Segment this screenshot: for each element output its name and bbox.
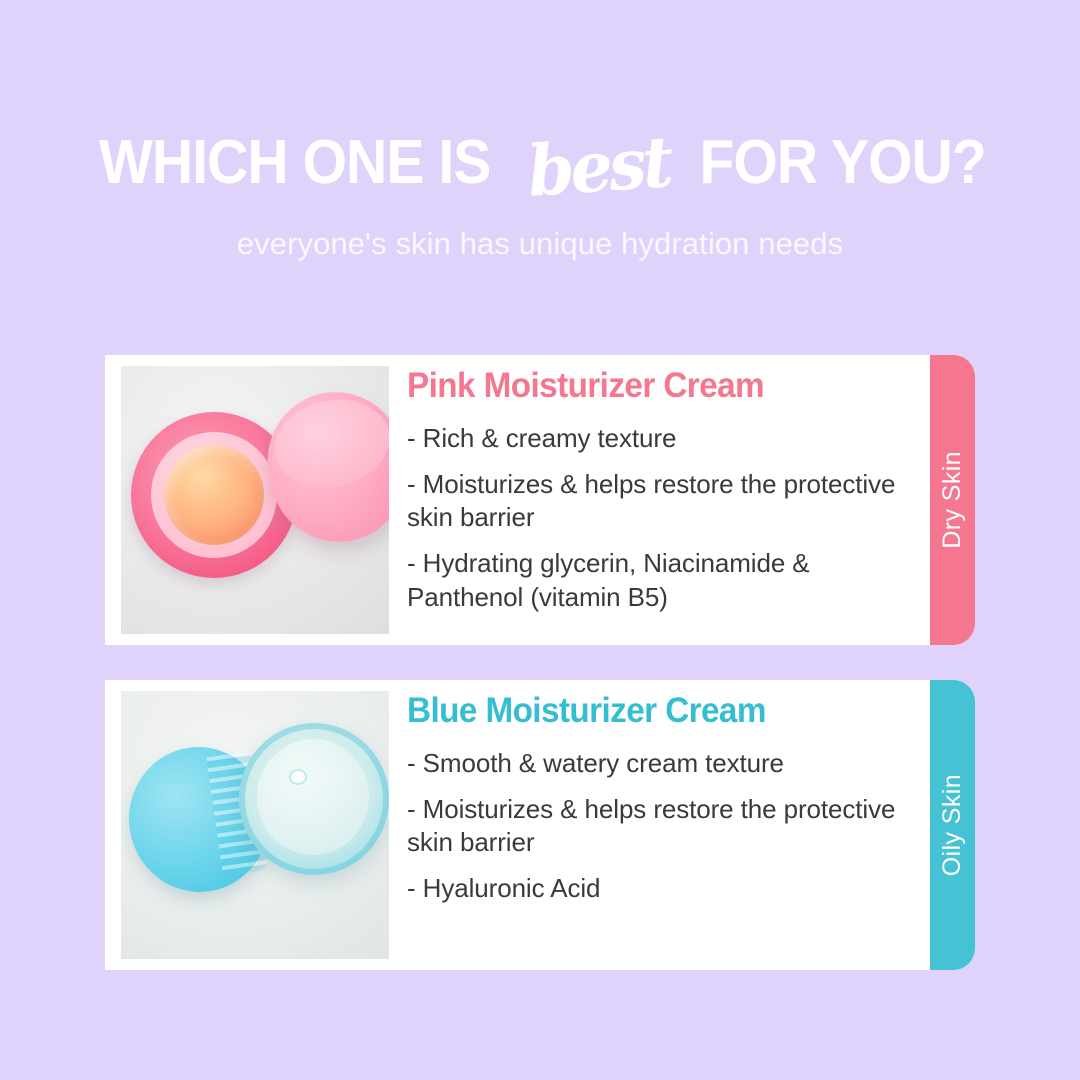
pink-jar-inner-icon	[151, 432, 277, 558]
product-feature: - Hyaluronic Acid	[407, 872, 904, 905]
product-photo-backdrop	[121, 691, 389, 959]
product-image-pink	[121, 366, 389, 634]
blue-jar-icon	[239, 723, 389, 875]
headline-part1: WHICH ONE IS	[99, 132, 490, 194]
product-feature: - Smooth & watery cream texture	[407, 747, 904, 780]
product-card-list: Dry Skin Pink Moisturizer Cream - Ric	[0, 355, 1080, 970]
product-details-pink: Pink Moisturizer Cream - Rich & creamy t…	[389, 367, 930, 614]
pink-cream-icon	[164, 445, 264, 545]
product-card-pink[interactable]: Dry Skin Pink Moisturizer Cream - Ric	[0, 355, 1080, 645]
product-feature: - Hydrating glycerin, Niacinamide & Pant…	[407, 547, 904, 614]
blue-gel-icon	[257, 739, 369, 855]
product-details-blue: Blue Moisturizer Cream - Smooth & watery…	[389, 692, 930, 906]
header: WHICH ONE IS best FOR YOU? everyone's sk…	[0, 0, 1080, 262]
product-image-blue	[121, 691, 389, 959]
product-feature: - Moisturizes & helps restore the protec…	[407, 468, 904, 535]
product-feature: - Moisturizes & helps restore the protec…	[407, 793, 904, 860]
skin-type-tab-label: Dry Skin	[938, 451, 967, 549]
page-headline: WHICH ONE IS best FOR YOU?	[0, 128, 1080, 198]
product-card-body-pink[interactable]: Pink Moisturizer Cream - Rich & creamy t…	[105, 355, 930, 645]
product-feature: - Rich & creamy texture	[407, 422, 904, 455]
product-title-pink: Pink Moisturizer Cream	[407, 367, 879, 406]
blue-gel-bubble-icon	[291, 771, 305, 783]
headline-part2: FOR YOU?	[699, 132, 985, 194]
product-card-blue[interactable]: Oily Skin Blue Moisturizer Cream	[0, 680, 1080, 970]
headline-script-word: best	[510, 126, 685, 208]
skin-type-tab-oily[interactable]: Oily Skin	[930, 680, 975, 970]
product-title-blue: Blue Moisturizer Cream	[407, 692, 879, 731]
skin-type-tab-dry[interactable]: Dry Skin	[930, 355, 975, 645]
product-photo-backdrop	[121, 366, 389, 634]
page-subtitle: everyone's skin has unique hydration nee…	[0, 226, 1080, 262]
pink-lid-top-icon	[266, 389, 389, 497]
skin-type-tab-label: Oily Skin	[938, 774, 967, 876]
product-card-body-blue[interactable]: Blue Moisturizer Cream - Smooth & watery…	[105, 680, 930, 970]
